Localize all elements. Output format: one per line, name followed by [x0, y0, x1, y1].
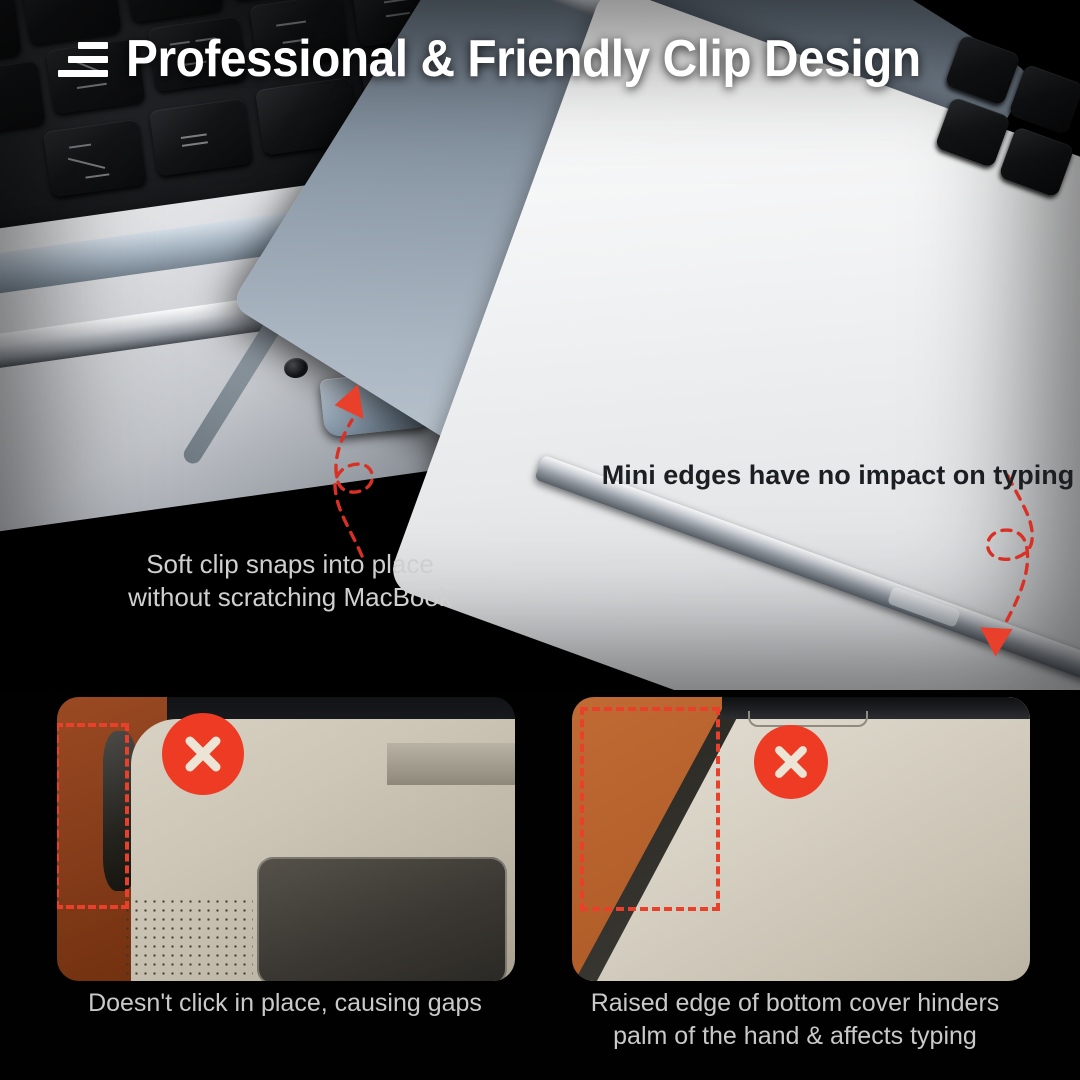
page-title: Professional & Friendly Clip Design: [126, 33, 921, 85]
cover-lip-notch: [748, 711, 868, 727]
red-x-badge: [754, 725, 828, 799]
keyboard-key: [0, 60, 46, 137]
metal-strip: [387, 743, 515, 785]
callout-soft-clip-line2: without scratching MacBook: [90, 581, 490, 614]
callout-soft-clip: Soft clip snaps into place without scrat…: [90, 548, 490, 615]
panel-caption-raised-edge-line1: Raised edge of bottom cover hinders: [540, 987, 1050, 1020]
panel-caption-raised-edge: Raised edge of bottom cover hinders palm…: [540, 987, 1050, 1053]
panel-caption-gaps: Doesn't click in place, causing gaps: [30, 987, 540, 1020]
callout-soft-clip-line1: Soft clip snaps into place: [90, 548, 490, 581]
comparison-panel-raised-edge: [572, 697, 1030, 981]
red-x-badge: [162, 713, 244, 795]
keyboard-key: [149, 98, 253, 177]
page-title-row: Professional & Friendly Clip Design: [58, 33, 990, 85]
hamburger-bars-icon: [58, 42, 108, 77]
keyboard-key: [934, 96, 1011, 168]
trackpad: [257, 857, 507, 981]
comparison-panels: Doesn't click in place, causing gaps Rai…: [0, 690, 1080, 1080]
x-mark-icon: [181, 732, 225, 776]
callout-mini-edges: Mini edges have no impact on typing: [596, 458, 1080, 493]
x-mark-icon: [771, 742, 811, 782]
keyboard-key: [998, 126, 1075, 198]
speaker-grille: [123, 897, 253, 981]
red-dashed-highlight-box: [57, 723, 129, 909]
keyboard-key: [43, 119, 147, 198]
red-dashed-highlight-box: [580, 707, 720, 911]
product-marketing-image: Professional & Friendly Clip Design Soft…: [0, 0, 1080, 1080]
keyboard-key: [0, 0, 22, 68]
panel-caption-raised-edge-line2: palm of the hand & affects typing: [540, 1020, 1050, 1053]
comparison-panel-gaps: [57, 697, 515, 981]
keyboard-key: [1008, 64, 1080, 136]
